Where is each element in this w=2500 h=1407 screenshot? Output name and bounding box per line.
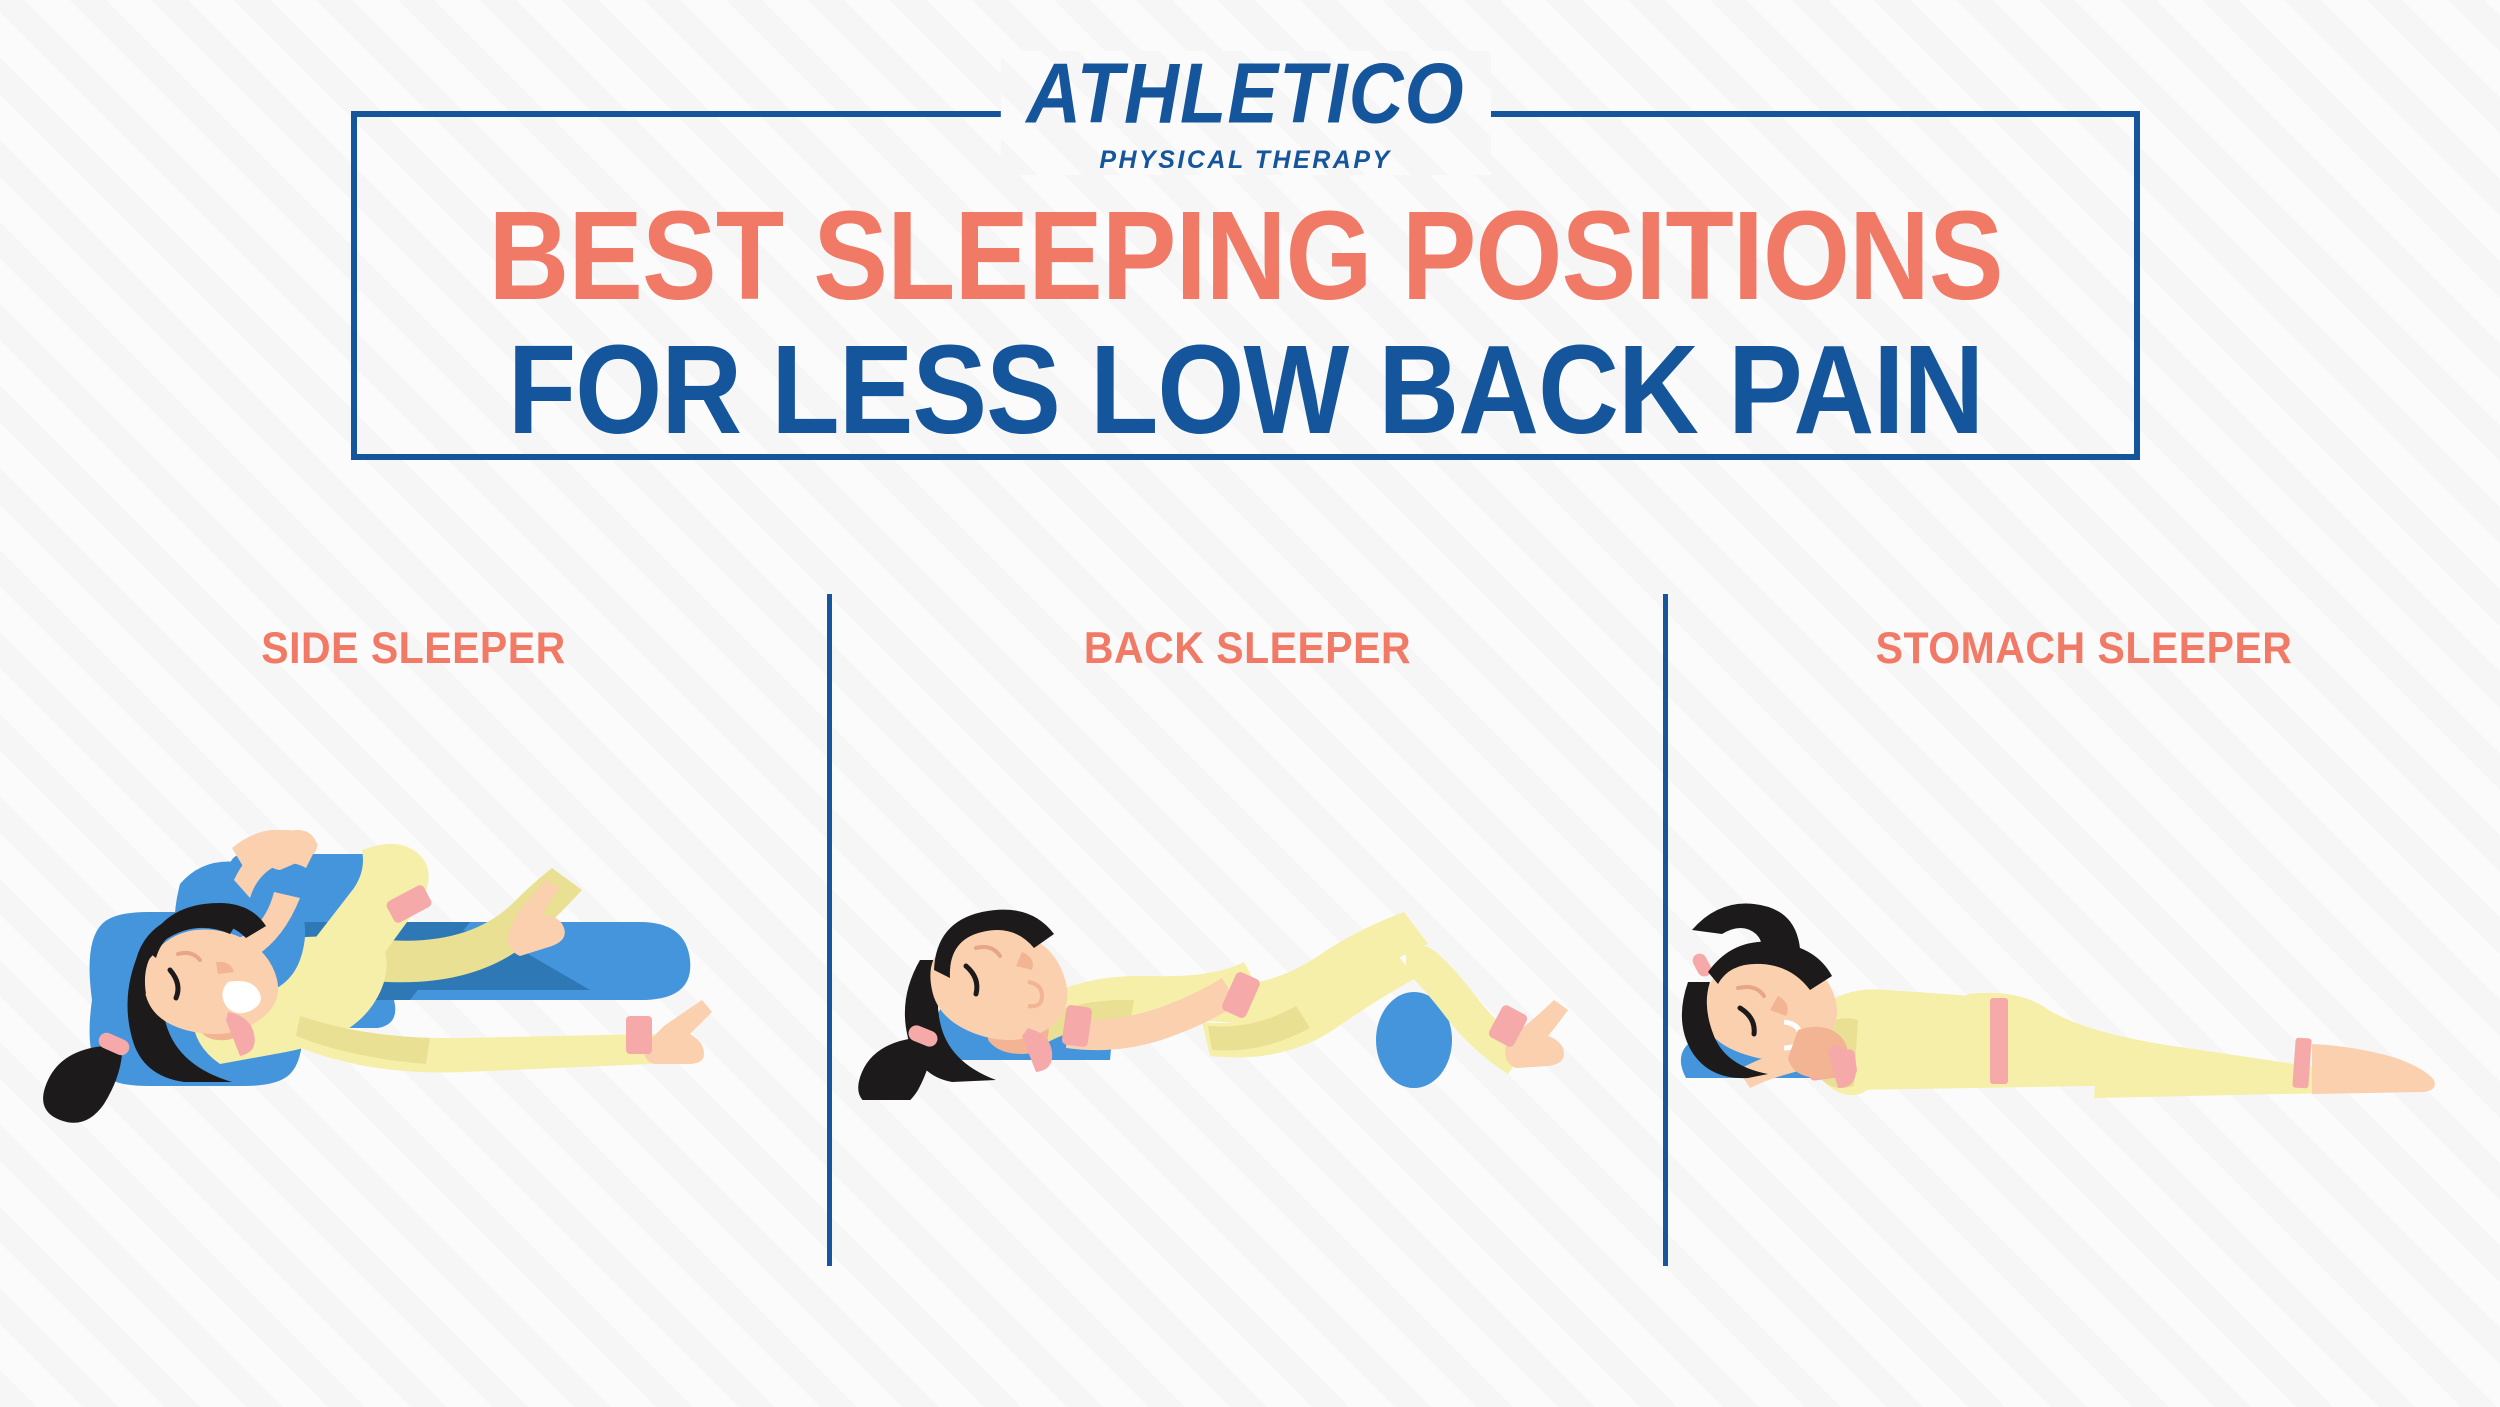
- waist-cuff: [1990, 998, 2008, 1084]
- title-box: ATHLETICO PHYSICAL THERAPY BEST SLEEPING…: [351, 111, 2140, 460]
- logo-wordmark: ATHLETICO: [1026, 51, 1464, 138]
- title-line-primary: BEST SLEEPING POSITIONS: [357, 195, 2134, 316]
- title-line-secondary: FOR LESS LOW BACK PAIN: [357, 329, 2134, 450]
- footer-space: [0, 1280, 2500, 1407]
- sleeping-positions-row: SIDE SLEEPER: [0, 590, 2500, 1280]
- column-label-side: SIDE SLEEPER: [0, 623, 827, 674]
- wrist-cuff: [1061, 1004, 1092, 1047]
- back-sleeper-illustration: [832, 900, 1663, 1100]
- ponytail: [43, 1046, 122, 1123]
- column-label-back: BACK SLEEPER: [832, 623, 1663, 674]
- foot: [2312, 1044, 2435, 1094]
- side-sleeper-illustration: [0, 830, 827, 1130]
- ponytail: [858, 1038, 932, 1100]
- ankle-cuff-front: [626, 1016, 652, 1054]
- page-title: BEST SLEEPING POSITIONS FOR LESS LOW BAC…: [357, 195, 2134, 436]
- athletico-logo: ATHLETICO PHYSICAL THERAPY: [1000, 51, 1490, 175]
- column-side-sleeper: SIDE SLEEPER: [0, 590, 827, 1280]
- stomach-sleeper-illustration: [1668, 900, 2500, 1100]
- foot-front: [644, 1000, 712, 1064]
- column-label-stomach: STOMACH SLEEPER: [1668, 623, 2500, 674]
- logo-subtitle: PHYSICAL THERAPY: [1099, 146, 1391, 175]
- column-stomach-sleeper: STOMACH SLEEPER: [1668, 590, 2500, 1280]
- column-back-sleeper: BACK SLEEPER: [832, 590, 1663, 1280]
